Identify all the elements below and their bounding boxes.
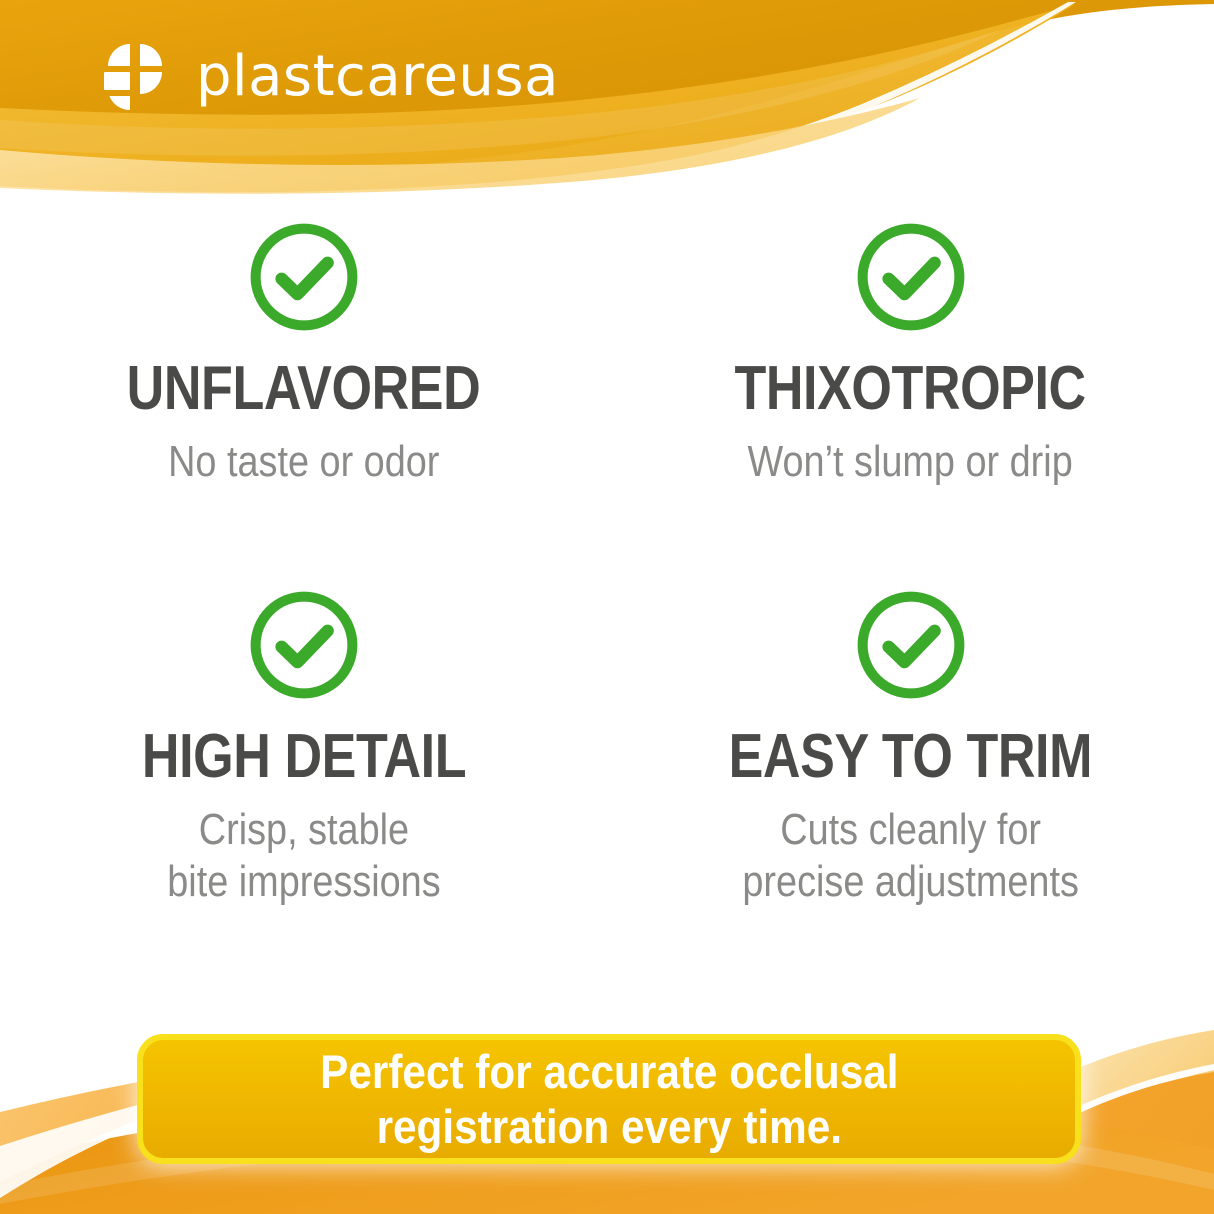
feature-description: Cuts cleanly for precise adjustments	[742, 804, 1079, 908]
tagline-text: Perfect for accurate occlusal registrati…	[320, 1044, 898, 1155]
feature-card-unflavored: UNFLAVORED No taste or odor	[0, 218, 607, 488]
feature-description: Won’t slump or drip	[748, 436, 1073, 488]
feature-grid: UNFLAVORED No taste or odor THIXOTROPIC …	[0, 218, 1214, 908]
feature-card-high-detail: HIGH DETAIL Crisp, stable bite impressio…	[0, 586, 607, 908]
feature-title: HIGH DETAIL	[141, 726, 465, 788]
rounded-cross-in-circle-icon	[100, 42, 170, 112]
tagline-banner: Perfect for accurate occlusal registrati…	[137, 1034, 1081, 1164]
check-circle-icon	[852, 218, 970, 336]
feature-description: No taste or odor	[168, 436, 439, 488]
feature-title: UNFLAVORED	[127, 358, 481, 420]
promo-graphic: plastcareusa UNFLAVORED No taste or odor…	[0, 0, 1214, 1214]
check-circle-icon	[245, 218, 363, 336]
check-circle-icon	[852, 586, 970, 704]
feature-title: THIXOTROPIC	[735, 358, 1086, 420]
feature-title: EASY TO TRIM	[729, 726, 1092, 788]
feature-description: Crisp, stable bite impressions	[167, 804, 440, 908]
feature-card-thixotropic: THIXOTROPIC Won’t slump or drip	[607, 218, 1214, 488]
check-circle-icon	[245, 586, 363, 704]
brand-wordmark: plastcareusa	[196, 49, 559, 105]
feature-card-easy-to-trim: EASY TO TRIM Cuts cleanly for precise ad…	[607, 586, 1214, 908]
header-bar: plastcareusa	[0, 0, 1214, 190]
brand-lockup: plastcareusa	[100, 42, 559, 112]
